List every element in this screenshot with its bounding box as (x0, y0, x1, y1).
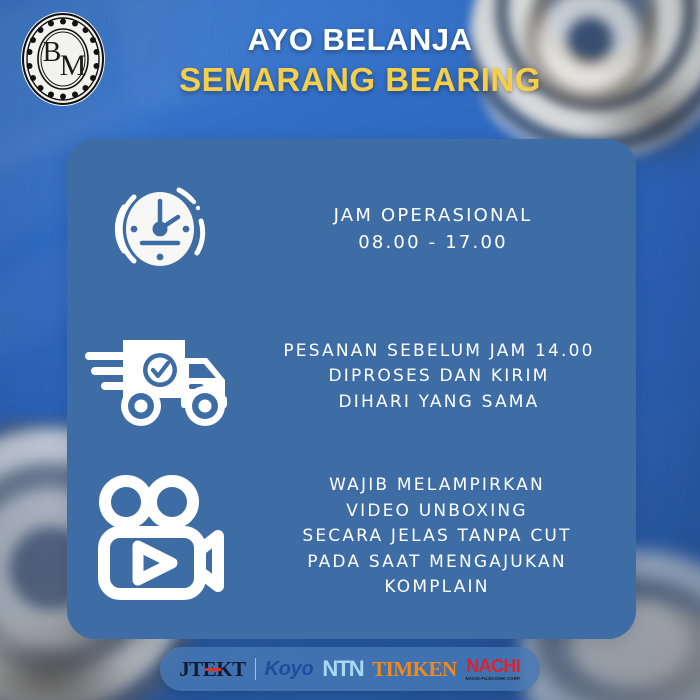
clock-icon (67, 173, 252, 285)
video-line-3: SECARA JELAS TANPA CUT (252, 524, 622, 550)
brand-nachi-label: NACHI (466, 657, 520, 675)
svg-text:M: M (60, 49, 87, 82)
header: B M AYO BELANJA SEMARANG BEARING (0, 0, 700, 130)
brand-logo-nachi: NACHI NACHI-FUJIKOSHI CORP. (466, 657, 521, 681)
bm-monogram-logo: B M (19, 9, 107, 109)
info-row-shipping: PESANAN SEBELUM JAM 14.00 DIPROSES DAN K… (67, 307, 636, 447)
brand-logo-jtekt: JTEKT (179, 659, 245, 680)
info-row-operating-hours: JAM OPERASIONAL 08.00 - 17.00 (67, 159, 636, 299)
delivery-truck-icon (67, 322, 252, 432)
shipping-line-3: DIHARI YANG SAMA (252, 390, 626, 416)
title-line-2: SEMARANG BEARING (150, 61, 570, 99)
video-line-5: KOMPLAIN (252, 575, 622, 601)
video-line-1: WAJIB MELAMPIRKAN (252, 473, 622, 499)
operating-hours-line-1: JAM OPERASIONAL (252, 202, 614, 229)
shipping-text: PESANAN SEBELUM JAM 14.00 DIPROSES DAN K… (252, 339, 636, 416)
video-line-4: PADA SAAT MENGAJUKAN (252, 550, 622, 576)
shipping-line-2: DIPROSES DAN KIRIM (252, 364, 626, 390)
brand-nachi-sublabel: NACHI-FUJIKOSHI CORP. (466, 677, 521, 681)
title-line-1: AYO BELANJA (150, 22, 570, 58)
brand-jtekt-accent (205, 668, 221, 671)
brand-divider (255, 658, 256, 680)
video-line-2: VIDEO UNBOXING (252, 499, 622, 525)
page-title: AYO BELANJA SEMARANG BEARING (150, 22, 570, 99)
info-card: JAM OPERASIONAL 08.00 - 17.00 (67, 139, 636, 639)
operating-hours-text: JAM OPERASIONAL 08.00 - 17.00 (252, 202, 636, 256)
shipping-line-1: PESANAN SEBELUM JAM 14.00 (252, 339, 626, 365)
video-camera-icon (67, 474, 252, 600)
brand-logo-bar: JTEKT Koyo NTN TIMKEN NACHI NACHI-FUJIKO… (160, 647, 540, 691)
brand-logo-timken: TIMKEN (372, 659, 457, 680)
video-unboxing-text: WAJIB MELAMPIRKAN VIDEO UNBOXING SECARA … (252, 473, 636, 601)
brand-logo-koyo: Koyo (265, 659, 314, 679)
svg-text:B: B (43, 37, 62, 68)
brand-logo-ntn: NTN (322, 658, 363, 680)
operating-hours-line-2: 08.00 - 17.00 (252, 229, 614, 256)
info-row-video-unboxing: WAJIB MELAMPIRKAN VIDEO UNBOXING SECARA … (67, 451, 636, 623)
